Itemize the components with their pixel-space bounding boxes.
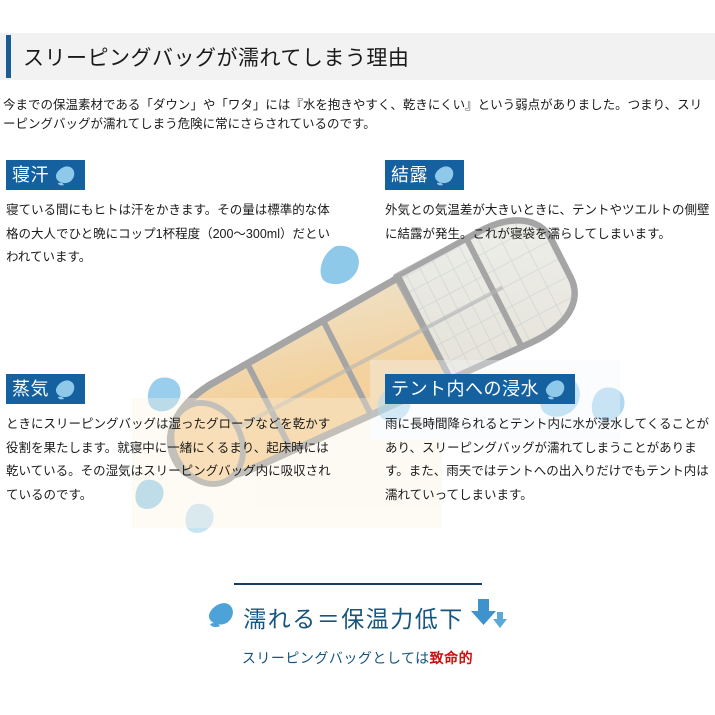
page-title: スリーピングバッグが濡れてしまう理由 [23, 42, 409, 72]
water-droplet-icon [207, 600, 237, 633]
section-body: ときにスリーピングバッグは湿ったグローブなどを乾かす役割を果たします。就寝中に一… [6, 413, 336, 507]
page-header: スリーピングバッグが濡れてしまう理由 [0, 33, 715, 80]
water-droplet-icon [54, 378, 78, 400]
water-droplet-icon [544, 378, 568, 400]
conclusion-main-text: 濡れる＝保温力低下 [243, 600, 464, 634]
intro-paragraph: 今までの保温素材である「ダウン」や「ワタ」には『水を抱きやすく、乾きにくい』とい… [3, 96, 712, 134]
water-droplet-icon [54, 164, 78, 186]
section-body: 外気との気温差が大きいときに、テントやツエルトの側壁に結露が発生。これが寝袋を濡… [385, 199, 710, 246]
section-badge-nease: 寝汗 [6, 160, 85, 190]
section-shinsui: テント内への浸水 雨に長時間降られるとテント内に水が浸水してくることがあり、スリ… [385, 374, 710, 507]
badge-label: 寝汗 [12, 165, 49, 185]
conclusion-subtext: スリーピングバッグとしては致命的 [0, 648, 715, 668]
badge-label: 蒸気 [12, 379, 49, 399]
badge-label: テント内への浸水 [391, 379, 539, 399]
water-droplet-icon [185, 504, 213, 533]
water-droplet-icon [433, 164, 457, 186]
bag-seam [399, 277, 450, 378]
down-arrow-icon [470, 597, 508, 636]
conclusion-sub-prefix: スリーピングバッグとしては [242, 650, 430, 666]
conclusion-block: 濡れる＝保温力低下 スリーピングバッグとしては致命的 [0, 583, 715, 668]
conclusion-divider [234, 583, 482, 585]
section-jouki: 蒸気 ときにスリーピングバッグは湿ったグローブなどを乾かす役割を果たします。就寝… [6, 374, 336, 507]
conclusion-main-row: 濡れる＝保温力低下 [0, 597, 715, 636]
section-ketsuro: 結露 外気との気温差が大きいときに、テントやツエルトの側壁に結露が発生。これが寝… [385, 160, 710, 246]
section-body: 寝ている間にもヒトは汗をかきます。その量は標準的な体格の大人でひと晩にコップ1杯… [6, 199, 336, 270]
section-nease: 寝汗 寝ている間にもヒトは汗をかきます。その量は標準的な体格の大人でひと晩にコッ… [6, 160, 336, 270]
conclusion-sub-emphasis: 致命的 [430, 650, 474, 666]
section-body: 雨に長時間降られるとテント内に水が浸水してくることがあり、スリーピングバッグが濡… [385, 413, 710, 507]
section-badge-ketsuro: 結露 [385, 160, 464, 190]
header-accent-bar [6, 35, 11, 78]
section-badge-jouki: 蒸気 [6, 374, 85, 404]
section-badge-shinsui: テント内への浸水 [385, 374, 575, 404]
badge-label: 結露 [391, 165, 428, 185]
bag-seam [466, 238, 521, 346]
